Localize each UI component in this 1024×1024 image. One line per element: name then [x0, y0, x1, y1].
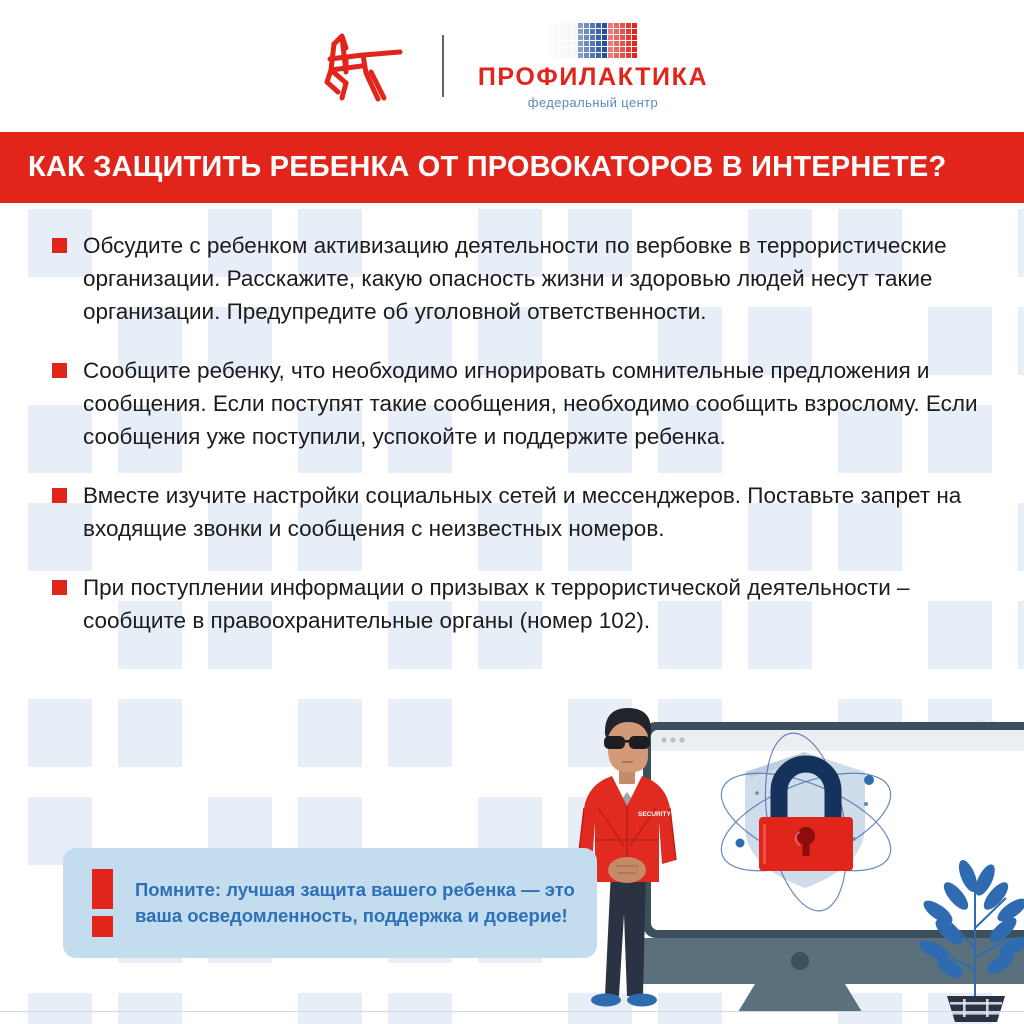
flag-pixel — [620, 35, 625, 40]
advice-list: Обсудите с ребенком активизацию деятельн… — [0, 203, 1024, 663]
flag-pixel — [572, 23, 577, 28]
flag-pixel — [566, 47, 571, 52]
flag-pixel — [626, 35, 631, 40]
flag-pixel — [560, 47, 565, 52]
list-item: При поступлении информации о призывах к … — [52, 571, 982, 637]
flag-pixel — [590, 29, 595, 34]
guard-trousers — [605, 870, 646, 996]
flag-pixel — [572, 29, 577, 34]
flag-pixel — [596, 23, 601, 28]
flag-pixel — [584, 23, 589, 28]
flag-pixel — [614, 47, 619, 52]
title-band: КАК ЗАЩИТИТЬ РЕБЕНКА ОТ ПРОВОКАТОРОВ В И… — [0, 132, 1024, 203]
flag-pixel — [614, 53, 619, 58]
flag-pixel — [554, 41, 559, 46]
bullet-square-icon — [52, 488, 67, 503]
flag-pixel — [578, 47, 583, 52]
flag-pixel — [548, 35, 553, 40]
flag-pixel — [608, 23, 613, 28]
flag-pixel — [608, 41, 613, 46]
flag-pixel — [632, 53, 637, 58]
logo-divider — [442, 35, 444, 97]
flag-pixel — [578, 41, 583, 46]
flag-pixel — [626, 29, 631, 34]
flag-pixel — [578, 29, 583, 34]
flag-pixel — [554, 29, 559, 34]
flag-pixel — [590, 23, 595, 28]
orbit-dot — [864, 775, 874, 785]
flag-pixel — [614, 41, 619, 46]
list-item-text: Сообщите ребенку, что необходимо игнорир… — [83, 354, 982, 453]
flag-pixel — [620, 47, 625, 52]
logo-row: ПРОФИЛАКТИКА федеральный центр — [316, 23, 708, 110]
guard-shoe — [627, 994, 657, 1007]
flag-pixel — [584, 53, 589, 58]
flag-pixel — [548, 29, 553, 34]
flag-pixel — [596, 53, 601, 58]
flag-pixel — [560, 35, 565, 40]
orbit-dot — [864, 802, 868, 806]
list-item: Сообщите ребенку, что необходимо игнорир… — [52, 354, 982, 453]
flag-pixel — [590, 35, 595, 40]
tricolor-pixel-grid-icon — [548, 23, 637, 58]
flag-pixel — [578, 23, 583, 28]
flag-pixel — [560, 23, 565, 28]
flag-pixel — [572, 41, 577, 46]
flag-pixel — [566, 41, 571, 46]
flag-pixel — [602, 41, 607, 46]
flag-pixel — [602, 29, 607, 34]
chair-line-art-logo — [316, 26, 408, 106]
reminder-callout: Помните: лучшая защита вашего ребенка — … — [63, 848, 597, 958]
flag-pixel — [602, 35, 607, 40]
flag-pixel — [572, 35, 577, 40]
flag-pixel — [608, 47, 613, 52]
floor-line — [0, 1011, 1024, 1012]
flag-pixel — [596, 35, 601, 40]
infographic-page: ПРОФИЛАКТИКА федеральный центр КАК ЗАЩИТ… — [0, 0, 1024, 1024]
flag-pixel — [614, 29, 619, 34]
flag-pixel — [614, 23, 619, 28]
flag-pixel — [548, 41, 553, 46]
flag-pixel — [608, 53, 613, 58]
flag-pixel — [548, 23, 553, 28]
flag-pixel — [614, 35, 619, 40]
flag-pixel — [590, 47, 595, 52]
browser-dot — [661, 737, 666, 742]
flag-pixel — [566, 53, 571, 58]
flag-pixel — [584, 41, 589, 46]
plant-pot — [947, 996, 1005, 1022]
flag-pixel — [626, 41, 631, 46]
flag-pixel — [608, 35, 613, 40]
page-title: КАК ЗАЩИТИТЬ РЕБЕНКА ОТ ПРОВОКАТОРОВ В И… — [28, 151, 946, 184]
brand-logo: ПРОФИЛАКТИКА федеральный центр — [478, 23, 708, 110]
flag-pixel — [554, 35, 559, 40]
list-item: Обсудите с ребенком активизацию деятельн… — [52, 229, 982, 328]
flag-pixel — [578, 53, 583, 58]
flag-pixel — [548, 53, 553, 58]
orbit-dot — [736, 839, 745, 848]
flag-pixel — [602, 53, 607, 58]
flag-pixel — [548, 47, 553, 52]
flag-pixel — [572, 47, 577, 52]
flag-pixel — [566, 35, 571, 40]
flag-pixel — [554, 53, 559, 58]
list-item-text: При поступлении информации о призывах к … — [83, 571, 982, 637]
flag-pixel — [620, 41, 625, 46]
flag-pixel — [554, 23, 559, 28]
flag-pixel — [632, 41, 637, 46]
list-item-text: Обсудите с ребенком активизацию деятельн… — [83, 229, 982, 328]
flag-pixel — [608, 29, 613, 34]
browser-dot — [670, 737, 675, 742]
flag-pixel — [626, 23, 631, 28]
flag-pixel — [572, 53, 577, 58]
flag-pixel — [596, 47, 601, 52]
flag-pixel — [632, 47, 637, 52]
flag-pixel — [584, 29, 589, 34]
flag-pixel — [590, 53, 595, 58]
flag-pixel — [602, 47, 607, 52]
flag-pixel — [620, 29, 625, 34]
flag-pixel — [560, 53, 565, 58]
brand-name: ПРОФИЛАКТИКА — [478, 65, 708, 90]
flag-pixel — [560, 29, 565, 34]
flag-pixel — [584, 47, 589, 52]
bullet-square-icon — [52, 238, 67, 253]
flag-pixel — [566, 29, 571, 34]
flag-pixel — [596, 41, 601, 46]
flag-pixel — [596, 29, 601, 34]
flag-pixel — [590, 41, 595, 46]
flag-pixel — [632, 29, 637, 34]
flag-pixel — [632, 23, 637, 28]
orbit-dot — [755, 791, 759, 795]
flag-pixel — [602, 23, 607, 28]
guard-shoe — [591, 994, 621, 1007]
list-item-text: Вместе изучите настройки социальных сете… — [83, 479, 982, 545]
flag-pixel — [584, 35, 589, 40]
guard-jacket-label: SECURITY — [638, 811, 672, 818]
flag-pixel — [626, 47, 631, 52]
flag-pixel — [578, 35, 583, 40]
flag-pixel — [560, 41, 565, 46]
browser-dot — [679, 737, 684, 742]
guard-hands — [608, 857, 646, 883]
brand-subtitle: федеральный центр — [528, 95, 658, 110]
list-item: Вместе изучите настройки социальных сете… — [52, 479, 982, 545]
reminder-text: Помните: лучшая защита вашего ребенка — … — [135, 877, 597, 929]
exclamation-mark-icon — [89, 869, 115, 937]
bullet-square-icon — [52, 580, 67, 595]
flag-pixel — [566, 23, 571, 28]
bullet-square-icon — [52, 363, 67, 378]
flag-pixel — [554, 47, 559, 52]
flag-pixel — [626, 53, 631, 58]
flag-pixel — [632, 35, 637, 40]
flag-pixel — [620, 53, 625, 58]
header: ПРОФИЛАКТИКА федеральный центр — [0, 0, 1024, 132]
flag-pixel — [620, 23, 625, 28]
